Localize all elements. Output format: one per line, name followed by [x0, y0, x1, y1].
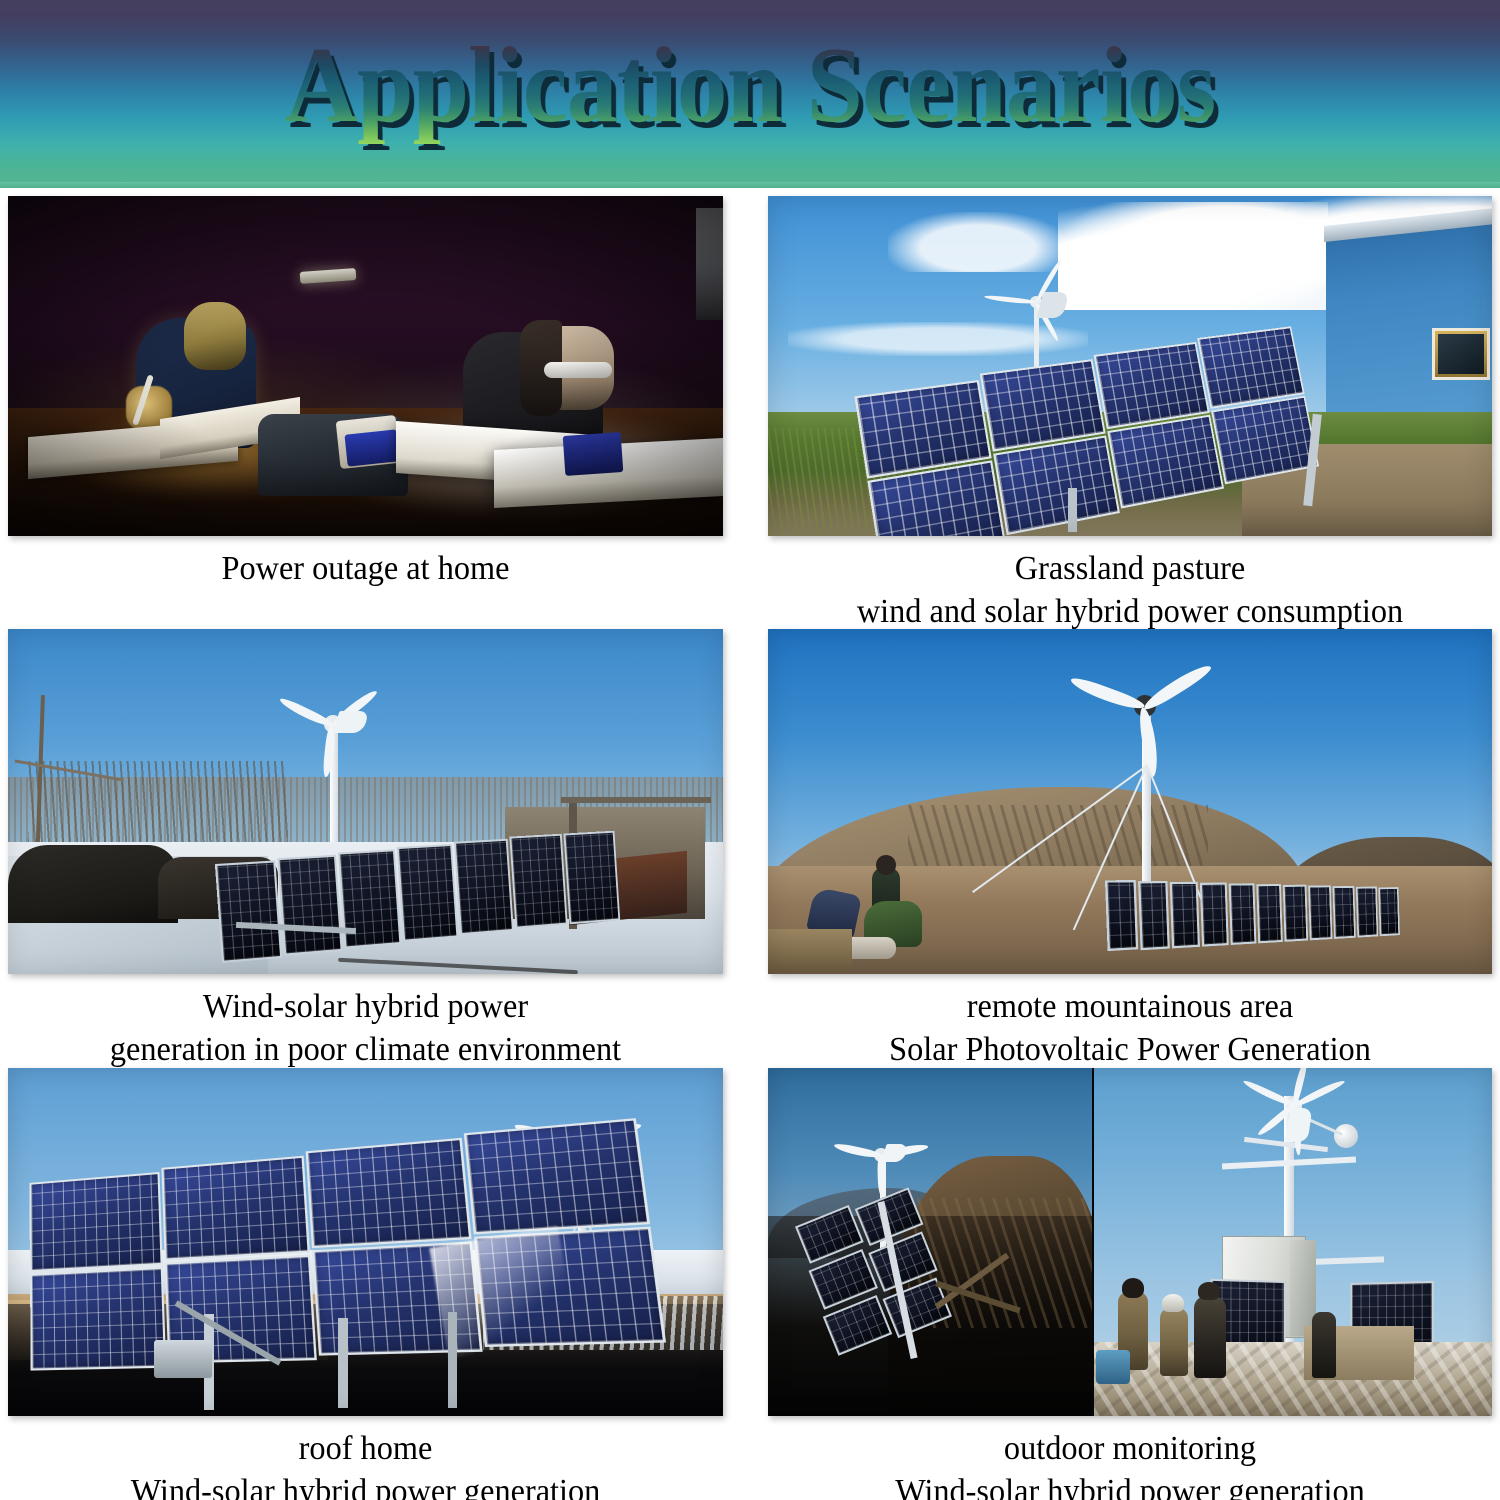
- photo-outdoor-monitoring: [768, 1068, 1492, 1416]
- caption-remote-mountainous-area: remote mountainous area Solar Photovolta…: [786, 986, 1474, 1072]
- page-title-wrap: Application Scenarios: [0, 26, 1500, 147]
- scenario-card-power-outage-at-home[interactable]: Power outage at home: [8, 196, 723, 536]
- caption-outdoor-monitoring: outdoor monitoring Wind-solar hybrid pow…: [786, 1428, 1474, 1500]
- caption-roof-home: roof home Wind-solar hybrid power genera…: [26, 1428, 705, 1500]
- photo-roof-home: [8, 1068, 723, 1416]
- scenario-card-poor-climate-environment[interactable]: Wind-solar hybrid power generation in po…: [8, 629, 723, 974]
- scenario-card-remote-mountainous-area[interactable]: remote mountainous area Solar Photovolta…: [768, 629, 1492, 974]
- photo-poor-climate-environment: [8, 629, 723, 974]
- scenario-grid: Power outage at home: [0, 188, 1500, 1500]
- photo-power-outage-at-home: [8, 196, 723, 536]
- caption-poor-climate-environment: Wind-solar hybrid power generation in po…: [26, 986, 705, 1072]
- page-title: Application Scenarios: [285, 26, 1216, 147]
- photo-remote-mountainous-area: [768, 629, 1492, 974]
- caption-power-outage-at-home: Power outage at home: [26, 548, 705, 591]
- scenario-card-grassland-pasture[interactable]: Grassland pasture wind and solar hybrid …: [768, 196, 1492, 536]
- scenario-card-roof-home[interactable]: roof home Wind-solar hybrid power genera…: [8, 1068, 723, 1416]
- scenario-card-outdoor-monitoring[interactable]: outdoor monitoring Wind-solar hybrid pow…: [768, 1068, 1492, 1416]
- photo-grassland-pasture: [768, 196, 1492, 536]
- caption-grassland-pasture: Grassland pasture wind and solar hybrid …: [786, 548, 1474, 634]
- page-header: Application Scenarios: [0, 0, 1500, 188]
